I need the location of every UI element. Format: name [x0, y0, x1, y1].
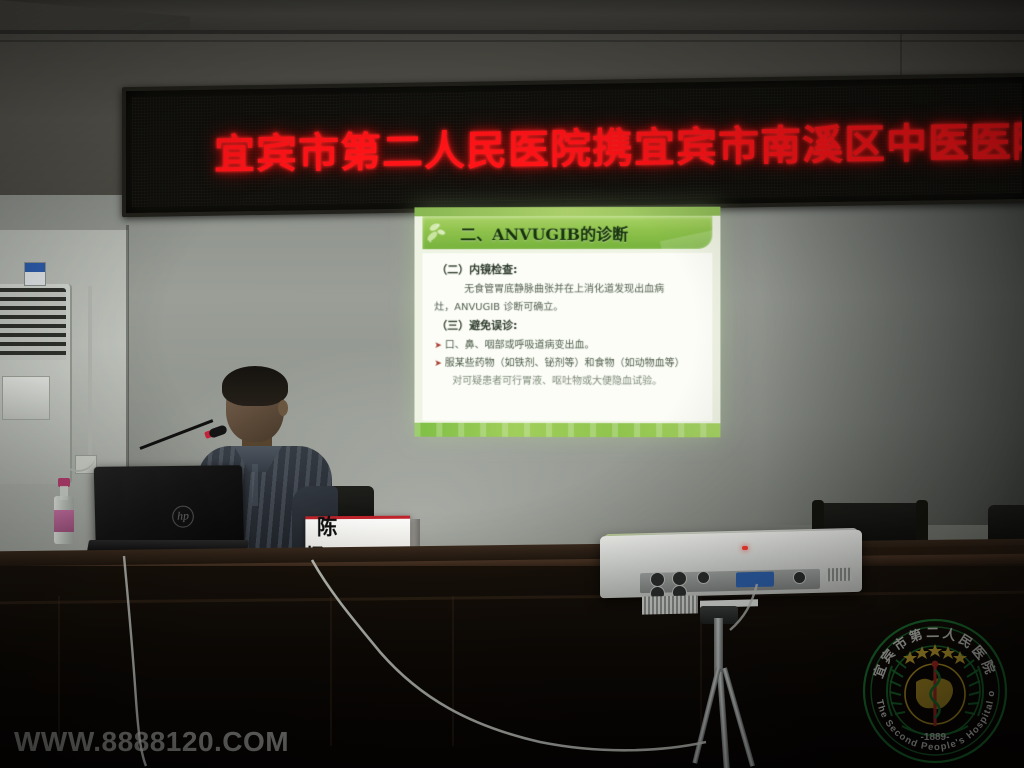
- slide-header: 二、ANVUGIB的诊断: [422, 216, 712, 250]
- led-banner-panel: 宜宾市第二人民医院携宜宾市南溪区中医医院学: [132, 83, 1022, 207]
- hospital-logo-watermark: -1889- 宜宾市第二人民医院 The Second People's Hos…: [862, 618, 1008, 764]
- projector-port[interactable]: [697, 571, 710, 584]
- air-conditioner-louvers: [0, 288, 66, 360]
- water-bottle: [54, 478, 74, 544]
- slide-footer-band: [414, 423, 720, 438]
- bottle-body: [54, 496, 74, 544]
- projector-power-led: [742, 546, 748, 550]
- slide-line: （二）内镜检查:: [436, 261, 706, 277]
- led-banner: 宜宾市第二人民医院携宜宾市南溪区中医医院学: [122, 73, 1024, 217]
- laptop[interactable]: hp: [94, 465, 244, 551]
- projector-port[interactable]: [793, 571, 806, 584]
- slide-line: （三）避免误诊:: [436, 317, 706, 333]
- slide-line: 对可疑患者可行胃液、呕吐物或大便隐血试验。: [452, 372, 706, 387]
- led-banner-text: 宜宾市第二人民医院携宜宾市南溪区中医医院学: [214, 107, 1022, 181]
- url-watermark: WWW.8888120.COM: [14, 726, 289, 758]
- presenter-shirt-placket: [252, 464, 258, 506]
- bottle-label: [54, 510, 74, 532]
- bullet-marker-icon: ➤: [434, 341, 442, 351]
- slide-line-text: 口、鼻、咽部或呼吸道病变出血。: [445, 340, 595, 351]
- desk-panel-seam: [330, 596, 332, 746]
- projector-port[interactable]: [650, 572, 665, 587]
- slide-line: ➤口、鼻、咽部或呼吸道病变出血。: [434, 336, 706, 351]
- slide-line: ➤服某些药物（如铁剂、铋剂等）和食物（如动物血等）: [434, 354, 706, 369]
- slide-line: 无食管胃底静脉曲张并在上消化道发现出血病: [464, 280, 706, 295]
- bullet-marker-icon: ➤: [434, 359, 442, 369]
- slide-line-text: 服某些药物（如铁剂、铋剂等）和食物（如动物血等）: [445, 358, 685, 369]
- wall-seam: [0, 40, 1024, 42]
- air-conditioner-display-panel[interactable]: [2, 376, 50, 420]
- desk-panel-seam: [58, 596, 60, 746]
- hp-logo-icon: hp: [172, 505, 194, 528]
- slide-title: 二、ANVUGIB的诊断: [460, 220, 628, 244]
- projector-vga-port[interactable]: [736, 572, 774, 588]
- slide-line: 灶，ANVUGIB 诊断可确立。: [434, 298, 706, 313]
- wall-conduit: [88, 286, 92, 456]
- projector-vent: [826, 568, 852, 582]
- presenter-hair: [222, 366, 288, 406]
- projector-vent: [642, 595, 698, 614]
- presenter-ear: [278, 400, 288, 416]
- projected-slide: 二、ANVUGIB的诊断 （二）内镜检查:无食管胃底静脉曲张并在上消化道发现出血…: [414, 207, 720, 438]
- wall-sticker: [24, 262, 46, 286]
- desk-panel-seam: [452, 596, 454, 746]
- right-wall-shadow: [760, 195, 1024, 525]
- slide-body: （二）内镜检查:无食管胃底静脉曲张并在上消化道发现出血病灶，ANVUGIB 诊断…: [422, 253, 712, 421]
- leaf-decoration-icon: [426, 220, 456, 246]
- projector-port[interactable]: [672, 571, 687, 586]
- lecture-hall-photo: 宜宾市第二人民医院携宜宾市南溪区中医医院学 二、ANVUGIB的诊断 （二）内镜…: [0, 0, 1024, 768]
